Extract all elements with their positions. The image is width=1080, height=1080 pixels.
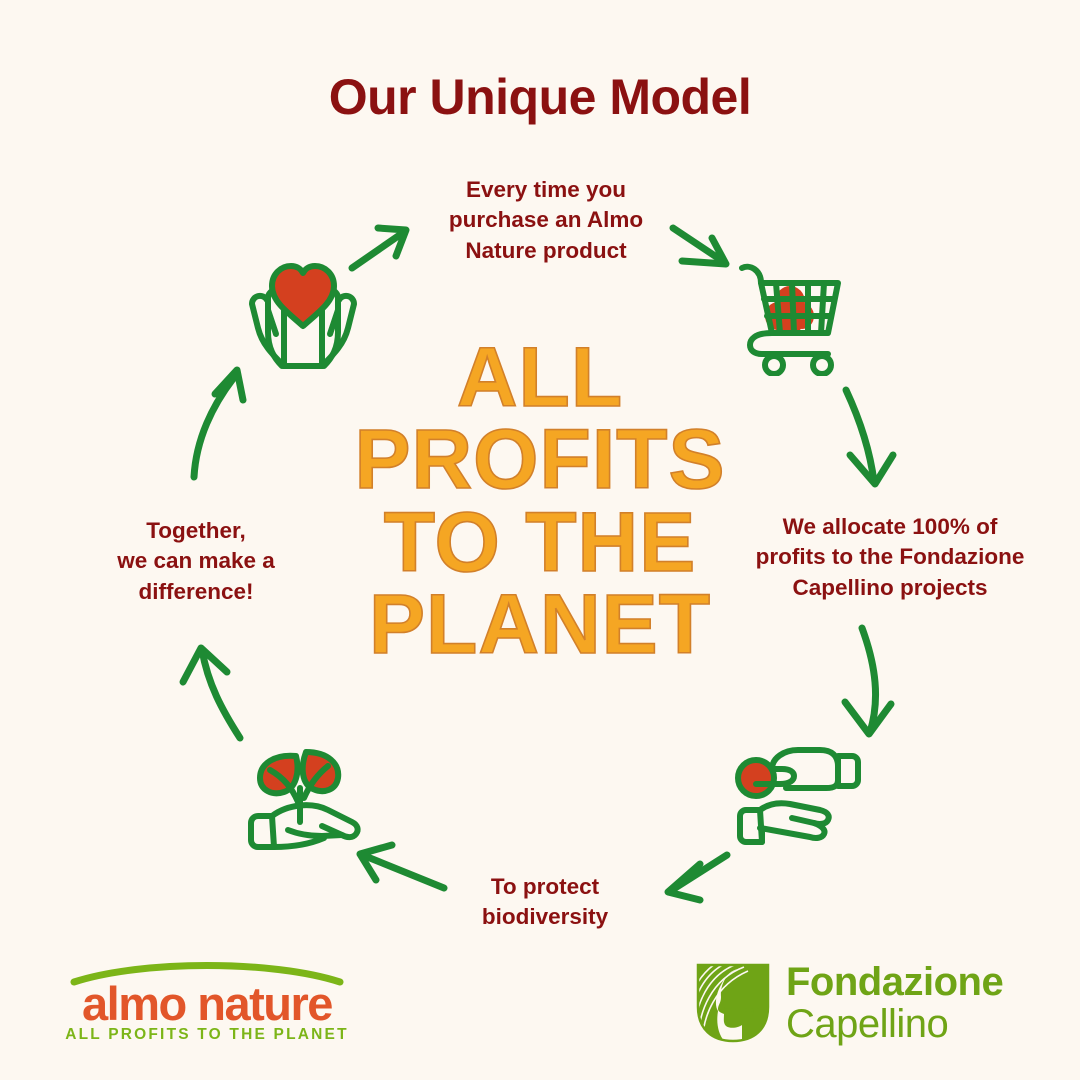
hand-sprout-icon <box>226 730 372 856</box>
fondazione-line1: Fondazione <box>786 962 1003 1002</box>
almo-wordmark: almo nature <box>62 976 352 1031</box>
almo-tagline: ALL PROFITS TO THE PLANET <box>62 1026 352 1044</box>
fondazione-capellino-logo: Fondazione Capellino <box>696 955 1046 1051</box>
almo-nature-logo: almo nature ALL PROFITS TO THE PLANET <box>62 958 352 1050</box>
hands-giving-coin-icon <box>716 736 862 856</box>
hands-heart-icon <box>238 248 368 374</box>
arrow-allocate-to-coin <box>845 628 891 734</box>
caption-together: Together, we can make a difference! <box>88 516 304 607</box>
caption-purchase: Every time you purchase an Almo Nature p… <box>398 175 694 266</box>
caption-allocate: We allocate 100% of profits to the Fonda… <box>710 512 1070 603</box>
arrow-protect-to-sprout <box>360 845 444 888</box>
arrow-sprout-to-together <box>183 648 240 738</box>
page-title: Our Unique Model <box>0 68 1080 126</box>
center-headline: ALL PROFITS TO THE PLANET <box>305 336 775 665</box>
arrow-together-to-heart <box>194 370 243 477</box>
infographic-canvas: Our Unique Model <box>0 0 1080 1080</box>
fondazione-line2: Capellino <box>786 1004 1003 1044</box>
fondazione-emblem-icon <box>696 963 770 1043</box>
shopping-cart-icon <box>728 250 854 376</box>
fondazione-wordmark: Fondazione Capellino <box>786 962 1003 1044</box>
caption-protect: To protect biodiversity <box>440 872 650 933</box>
arrow-coin-to-protect <box>668 855 727 900</box>
arrow-cart-to-allocate <box>846 390 893 484</box>
